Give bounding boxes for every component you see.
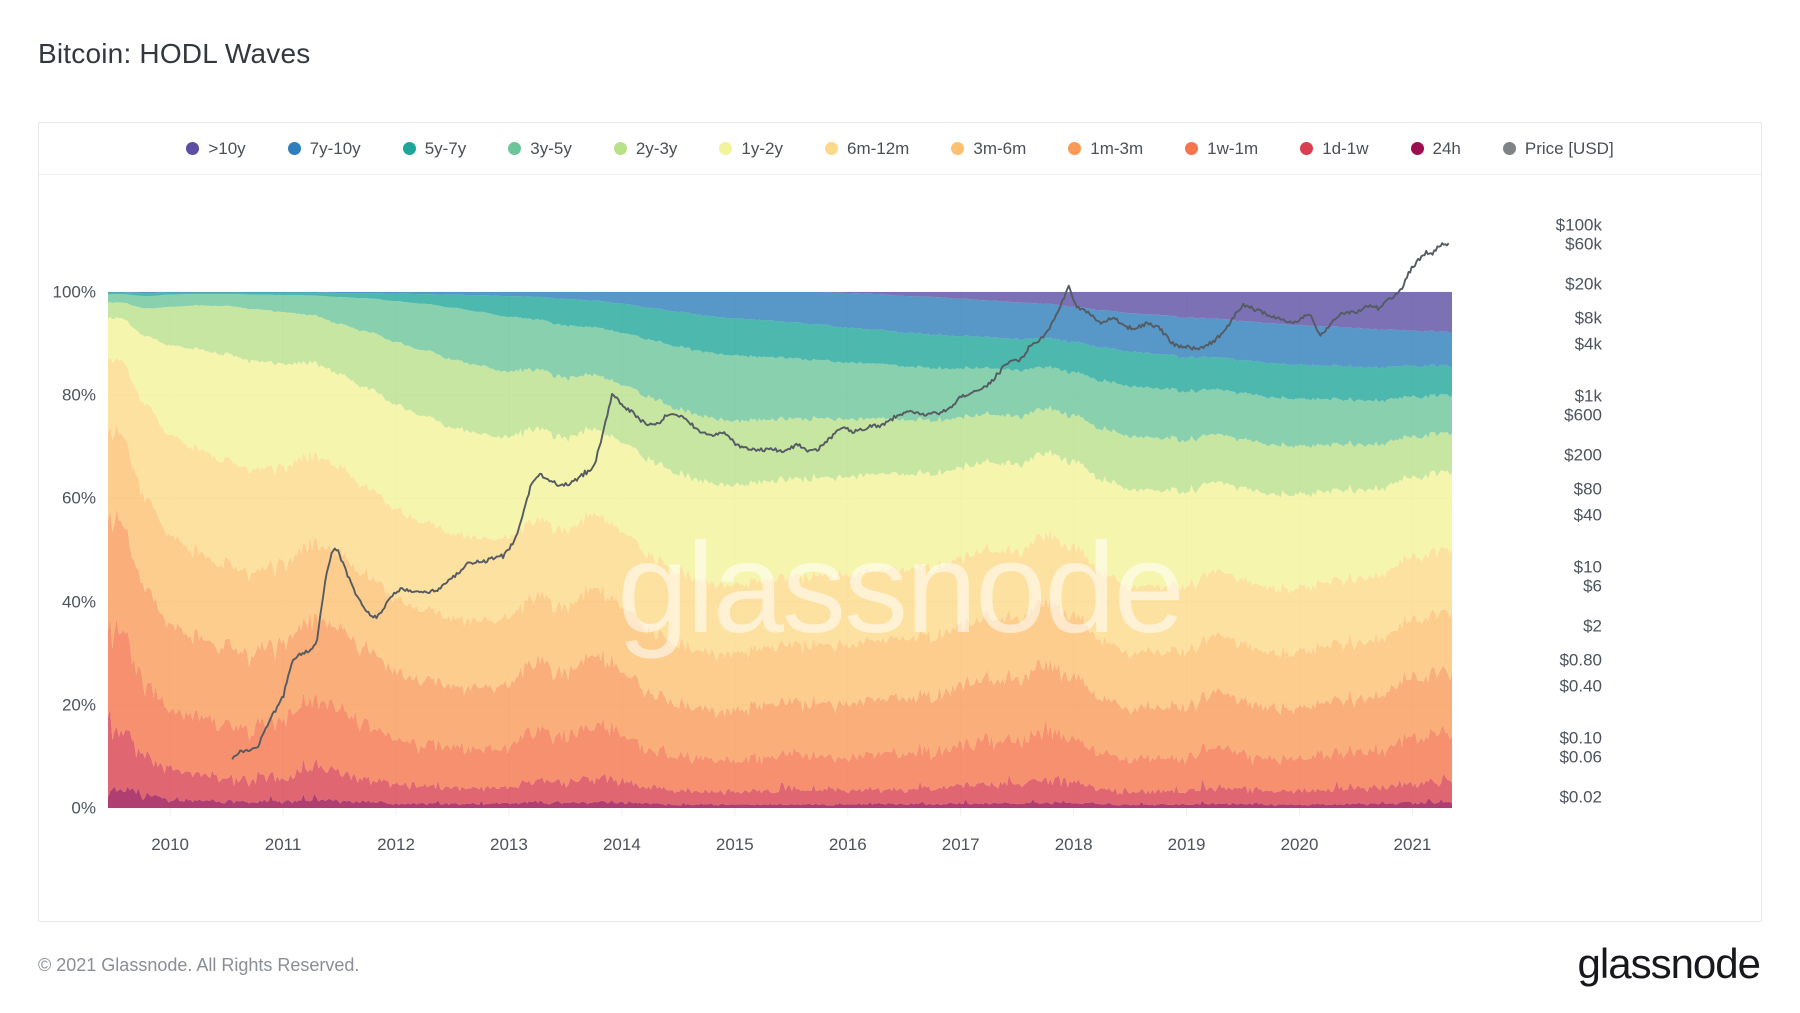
y-axis-right-tick: $60k — [1482, 235, 1602, 252]
y-axis-left-tick: 100% — [39, 284, 96, 301]
page-title: Bitcoin: HODL Waves — [38, 38, 310, 70]
legend-item-label: 1w-1m — [1207, 140, 1258, 157]
x-axis-tick: 2010 — [151, 836, 189, 853]
legend-dot-icon — [508, 142, 521, 155]
legend-item-1w-1m[interactable]: 1w-1m — [1185, 140, 1258, 157]
legend-item-1m-3m[interactable]: 1m-3m — [1068, 140, 1143, 157]
legend-item-label: 1m-3m — [1090, 140, 1143, 157]
y-axis-right-tick: $200 — [1482, 447, 1602, 464]
x-axis-tick: 2014 — [603, 836, 641, 853]
legend-item-label: 6m-12m — [847, 140, 909, 157]
glassnode-logo: glassnode — [1578, 940, 1760, 988]
y-axis-left-tick: 60% — [39, 490, 96, 507]
legend-dot-icon — [403, 142, 416, 155]
legend-dot-icon — [1300, 142, 1313, 155]
legend-dot-icon — [1185, 142, 1198, 155]
legend-dot-icon — [825, 142, 838, 155]
y-axis-right-tick: $10 — [1482, 558, 1602, 575]
x-axis-tick: 2019 — [1168, 836, 1206, 853]
legend-item-price-usd[interactable]: Price [USD] — [1503, 140, 1614, 157]
legend-item-3m-6m[interactable]: 3m-6m — [951, 140, 1026, 157]
y-axis-left-tick: 40% — [39, 593, 96, 610]
legend-dot-icon — [1411, 142, 1424, 155]
y-axis-right-tick: $20k — [1482, 276, 1602, 293]
legend-item-label: 1y-2y — [741, 140, 783, 157]
chart-legend: >10y7y-10y5y-7y3y-5y2y-3y1y-2y6m-12m3m-6… — [39, 123, 1761, 175]
y-axis-right-tick: $0.06 — [1482, 748, 1602, 765]
y-axis-right-tick: $600 — [1482, 406, 1602, 423]
legend-item-label: >10y — [208, 140, 245, 157]
y-axis-left-tick: 0% — [39, 800, 96, 817]
x-axis-tick: 2011 — [265, 836, 302, 853]
legend-item-label: 7y-10y — [310, 140, 361, 157]
x-axis-tick: 2017 — [942, 836, 980, 853]
legend-item-3y-5y[interactable]: 3y-5y — [508, 140, 572, 157]
x-axis-tick: 2021 — [1394, 836, 1432, 853]
y-axis-right-tick: $80 — [1482, 481, 1602, 498]
y-axis-right-tick: $0.80 — [1482, 652, 1602, 669]
legend-item-2y-3y[interactable]: 2y-3y — [614, 140, 678, 157]
x-axis-tick: 2015 — [716, 836, 754, 853]
legend-item-24h[interactable]: 24h — [1411, 140, 1461, 157]
legend-dot-icon — [951, 142, 964, 155]
legend-dot-icon — [288, 142, 301, 155]
chart-card: >10y7y-10y5y-7y3y-5y2y-3y1y-2y6m-12m3m-6… — [38, 122, 1762, 922]
legend-item-label: 24h — [1433, 140, 1461, 157]
legend-dot-icon — [186, 142, 199, 155]
y-axis-right-tick: $40 — [1482, 507, 1602, 524]
legend-item-label: 2y-3y — [636, 140, 678, 157]
x-axis-tick: 2013 — [490, 836, 528, 853]
x-axis-tick: 2012 — [377, 836, 415, 853]
plot-area: glassnode 0%20%40%60%80%100%$0.02$0.06$0… — [39, 175, 1761, 921]
legend-dot-icon — [1068, 142, 1081, 155]
y-axis-right-tick: $2 — [1482, 618, 1602, 635]
legend-item-label: 5y-7y — [425, 140, 467, 157]
hodl-bands-group — [108, 292, 1452, 808]
y-axis-right-tick: $0.10 — [1482, 729, 1602, 746]
y-axis-right-tick: $0.40 — [1482, 678, 1602, 695]
legend-dot-icon — [614, 142, 627, 155]
legend-item-label: 1d-1w — [1322, 140, 1368, 157]
y-axis-right-tick: $1k — [1482, 387, 1602, 404]
legend-item-5y-7y[interactable]: 5y-7y — [403, 140, 467, 157]
y-axis-right-tick: $0.02 — [1482, 789, 1602, 806]
y-axis-left-tick: 80% — [39, 387, 96, 404]
y-axis-right-tick: $100k — [1482, 216, 1602, 233]
legend-item-1d-1w[interactable]: 1d-1w — [1300, 140, 1368, 157]
y-axis-right-tick: $4k — [1482, 336, 1602, 353]
legend-item-label: Price [USD] — [1525, 140, 1614, 157]
legend-item-label: 3y-5y — [530, 140, 572, 157]
y-axis-left-tick: 20% — [39, 696, 96, 713]
x-axis-tick: 2018 — [1055, 836, 1093, 853]
legend-item-label: 3m-6m — [973, 140, 1026, 157]
y-axis-right-tick: $6 — [1482, 577, 1602, 594]
legend-item-7y-10y[interactable]: 7y-10y — [288, 140, 361, 157]
legend-dot-icon — [1503, 142, 1516, 155]
x-axis-tick: 2016 — [829, 836, 867, 853]
copyright-text: © 2021 Glassnode. All Rights Reserved. — [38, 955, 359, 976]
legend-item-6m-12m[interactable]: 6m-12m — [825, 140, 909, 157]
legend-dot-icon — [719, 142, 732, 155]
page-root: Bitcoin: HODL Waves >10y7y-10y5y-7y3y-5y… — [0, 0, 1800, 1013]
y-axis-right-tick: $8k — [1482, 310, 1602, 327]
legend-item-1y-2y[interactable]: 1y-2y — [719, 140, 783, 157]
legend-item-10y[interactable]: >10y — [186, 140, 245, 157]
x-axis-tick: 2020 — [1281, 836, 1319, 853]
